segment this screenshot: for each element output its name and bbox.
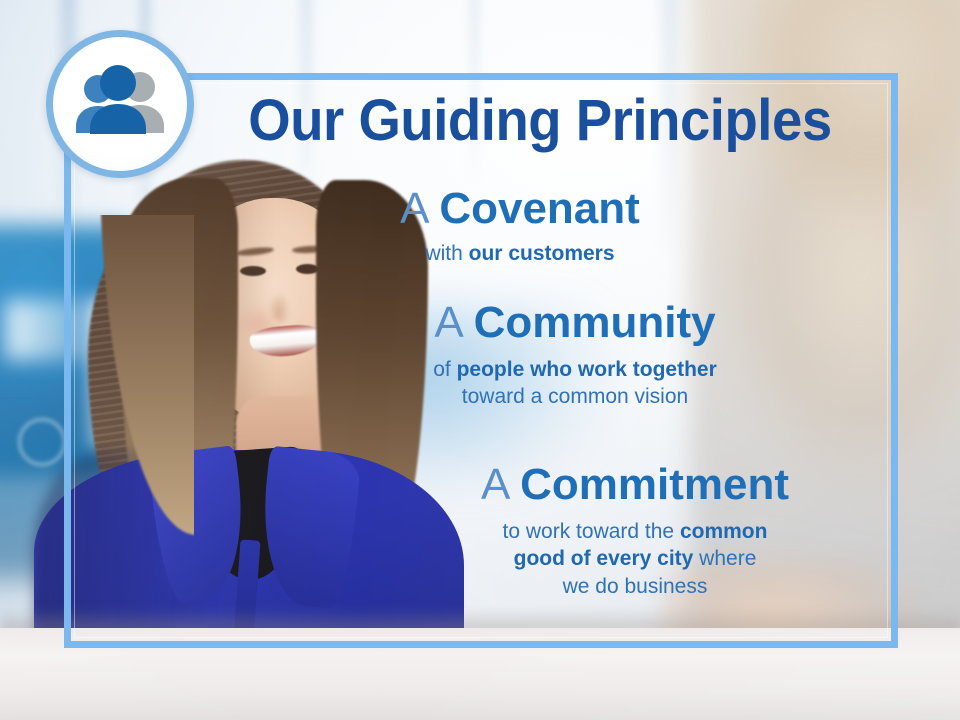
plain-text: to work toward the [503, 520, 680, 543]
principle-subtext-line: with our customers [300, 240, 740, 268]
plain-text: of [433, 358, 456, 381]
emphasis-text: common [680, 520, 768, 543]
emphasis-text: our customers [469, 242, 615, 265]
principle-subtext-line: to work toward the common [400, 518, 870, 546]
principle-article: A [400, 184, 427, 233]
principle-lead: A Commitment [400, 462, 870, 509]
principle-subtext: with our customers [300, 240, 740, 268]
principle-subtext-line: good of every city where [400, 545, 870, 573]
page-title: Our Guiding Principles [230, 92, 850, 150]
plain-text: where [693, 547, 756, 570]
principle-subtext: of people who work togethertoward a comm… [340, 356, 810, 411]
principle-lead: A Covenant [300, 186, 740, 233]
principle-subtext: to work toward the commongood of every c… [400, 518, 870, 601]
eye-left [240, 266, 266, 276]
principle-block-covenant: A Covenant with our customers [300, 186, 740, 267]
plain-text: toward a common vision [462, 385, 688, 408]
principle-lead: A Community [340, 300, 810, 347]
plain-text: we do business [563, 575, 708, 598]
principle-article: A [434, 298, 461, 347]
principle-subtext-line: we do business [400, 573, 870, 601]
group-of-people-icon [46, 30, 194, 178]
principle-subtext-line: of people who work together [340, 356, 810, 384]
emphasis-text: good of every city [514, 547, 694, 570]
principle-word: Commitment [520, 460, 789, 509]
nose [270, 288, 292, 322]
desk-surface [0, 628, 960, 720]
principle-block-community: A Community of people who work togethert… [340, 300, 810, 411]
guiding-principles-banner: FLOW AUTOMOTIVE FLOW [0, 0, 960, 720]
emphasis-text: people who work together [457, 358, 717, 381]
principle-subtext-line: toward a common vision [340, 383, 810, 411]
principle-block-commitment: A Commitment to work toward the commongo… [400, 462, 870, 601]
principle-article: A [481, 460, 508, 509]
plain-text: with [425, 242, 468, 265]
principle-word: Community [474, 298, 716, 347]
principle-word: Covenant [439, 184, 639, 233]
